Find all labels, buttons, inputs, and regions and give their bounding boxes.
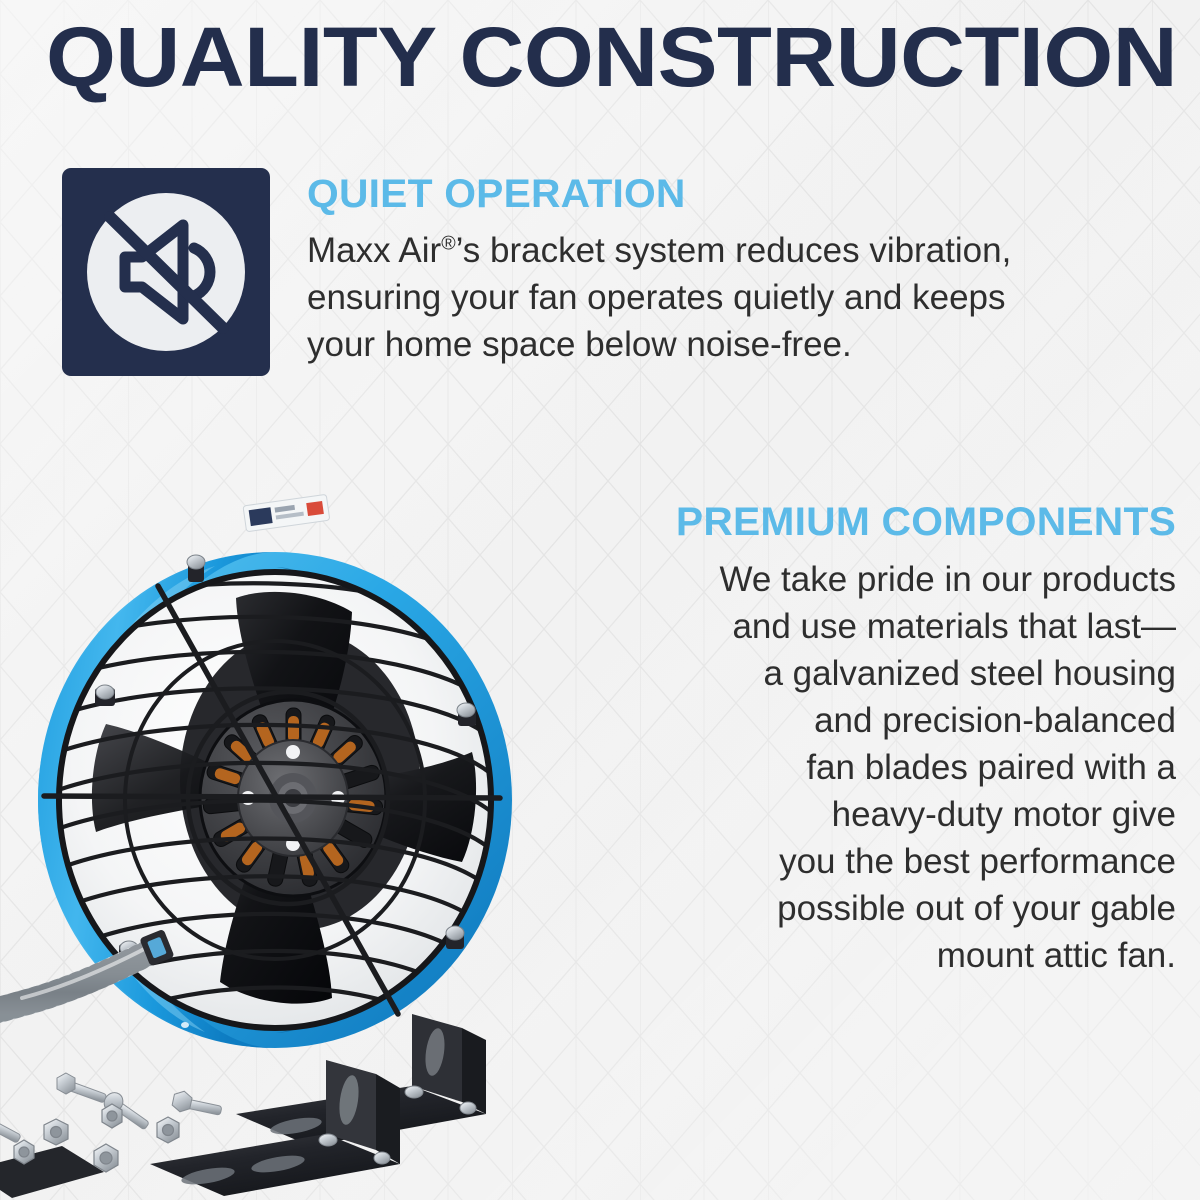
- housing-product-label: [243, 494, 330, 531]
- brand-name: Maxx Air: [307, 231, 441, 270]
- fasteners-bolts-nuts-washers: [0, 1073, 223, 1172]
- page-title: QUALITY CONSTRUCTION: [46, 14, 1200, 100]
- feature-title-quiet-operation: QUIET OPERATION: [307, 172, 1194, 216]
- mute-speaker-no-sound-icon: [62, 168, 270, 376]
- quiet-operation-text-column: QUIET OPERATION Maxx Air®’s bracket syst…: [307, 172, 1177, 368]
- infographic-canvas: QUALITY CONSTRUCTION QUIET OPERATION Max…: [0, 0, 1200, 1200]
- quiet-operation-icon-badge: [62, 168, 270, 376]
- body-line-remainder: ’s bracket system reduces vibration,: [456, 231, 1012, 270]
- body-line: Maxx Air®’s bracket system reduces vibra…: [307, 227, 1177, 274]
- body-line: your home space below noise-free.: [307, 321, 1177, 368]
- feature-body-quiet-operation: Maxx Air®’s bracket system reduces vibra…: [307, 227, 1177, 368]
- body-line: ensuring your fan operates quietly and k…: [307, 274, 1177, 321]
- registered-trademark-symbol: ®: [441, 232, 455, 254]
- product-image-gable-mount-attic-fan: [0, 480, 700, 1200]
